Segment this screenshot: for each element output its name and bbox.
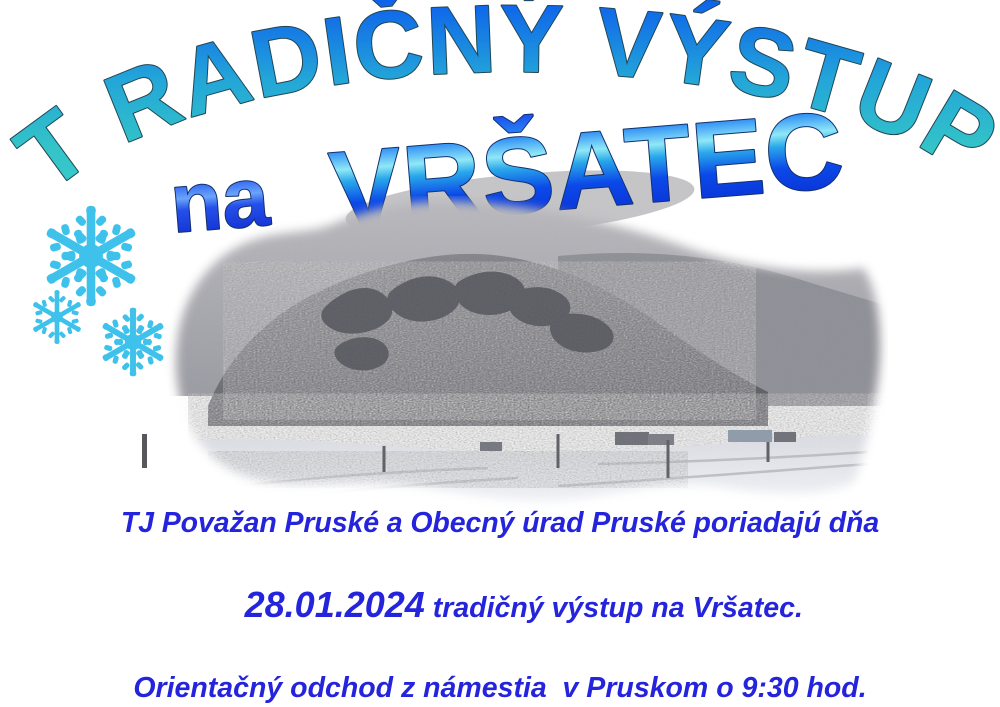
photo-edge-mark	[142, 434, 147, 468]
date-line: 28.01.2024 tradičný výstup na Vršatec.	[0, 545, 1000, 664]
departure-line: Orientačný odchod z námestia v Pruskom o…	[0, 670, 1000, 706]
event-date: 28.01.2024	[245, 584, 425, 625]
event-description: tradičný výstup na Vršatec.	[425, 592, 803, 624]
event-details: TJ Považan Pruské a Obecný úrad Pruské p…	[0, 505, 1000, 707]
snowflake-icon-medium	[96, 305, 170, 379]
photo-vrsatec	[128, 196, 888, 526]
photo-content	[128, 196, 888, 526]
organizers-line: TJ Považan Pruské a Obecný úrad Pruské p…	[0, 505, 1000, 541]
snowflake-icon-small	[28, 288, 86, 346]
poster-canvas: T RADIČNÝ VÝSTUP	[0, 0, 1000, 707]
